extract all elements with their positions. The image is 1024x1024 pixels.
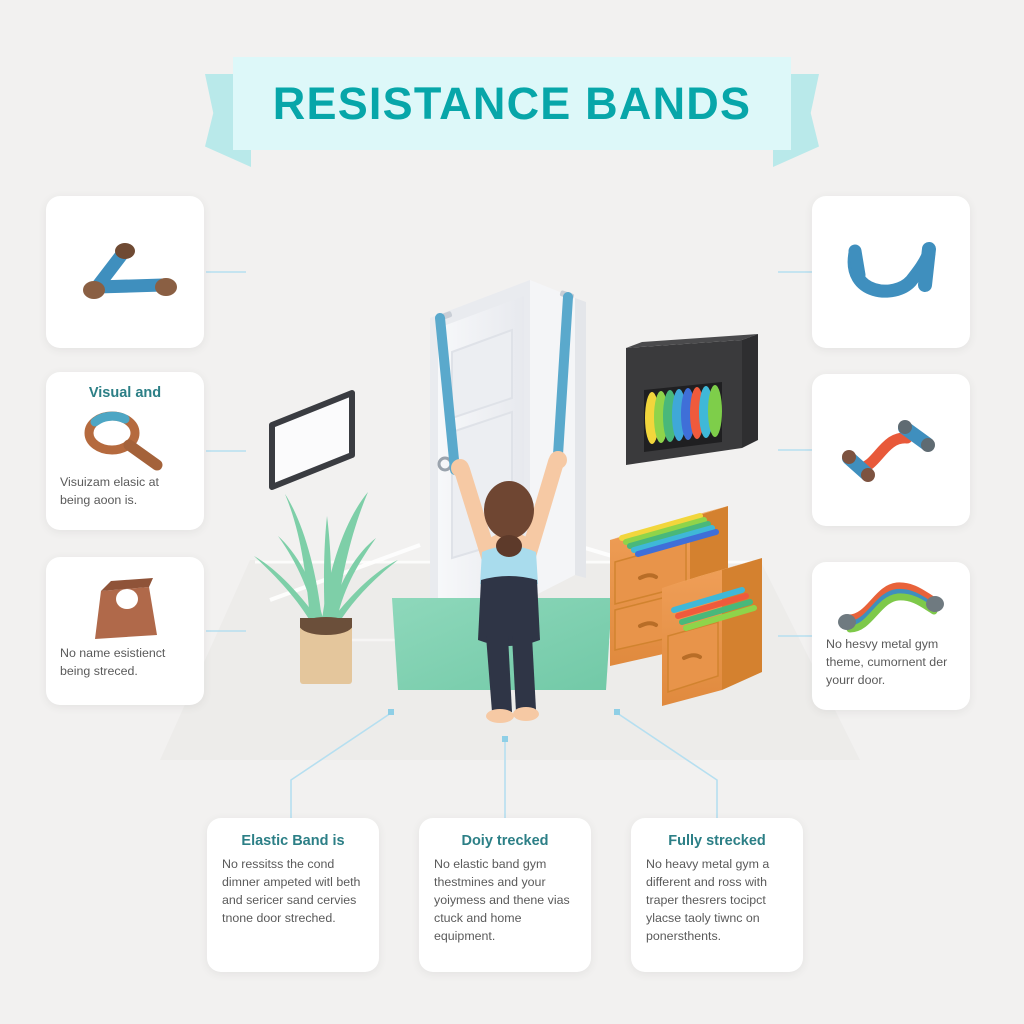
- card-middle-right[interactable]: [812, 374, 970, 526]
- page-title: RESISTANCE BANDS: [233, 57, 791, 150]
- resistance-band-blue-handles-icon: [67, 233, 183, 311]
- card-top-right[interactable]: [812, 196, 970, 348]
- card-bottom-left[interactable]: No name esistienct being streced.: [46, 557, 204, 705]
- infographic-canvas: Visual and Visuizam elasic at being aoon…: [0, 0, 1024, 1024]
- card-bottom-1[interactable]: Elastic Band is No ressitss the cond dim…: [207, 818, 379, 972]
- card-bottom-3-heading: Fully strecked: [646, 832, 788, 850]
- card-bottom-3[interactable]: Fully strecked No heavy metal gym a diff…: [631, 818, 803, 972]
- orange-band-blue-handles-icon: [833, 410, 949, 490]
- card-middle-left-body: Visuizam elasic at being aoon is.: [60, 474, 190, 510]
- card-bottom-3-body: No heavy metal gym a different and ross …: [646, 856, 788, 946]
- magnifying-glass-icon: [79, 408, 171, 474]
- card-bottom-right-body: No hesvy metal gym theme, cumornent der …: [826, 636, 956, 690]
- brown-bag-icon: [83, 569, 167, 645]
- card-bottom-right[interactable]: No hesvy metal gym theme, cumornent der …: [812, 562, 970, 710]
- dark-shelf-with-loop-bands: [626, 334, 758, 465]
- card-middle-left[interactable]: Visual and Visuizam elasic at being aoon…: [46, 372, 204, 530]
- card-bottom-left-body: No name esistienct being streced.: [60, 645, 190, 681]
- card-bottom-2-body: No elastic band gym thestmines and your …: [434, 856, 576, 946]
- blue-loop-band-icon: [833, 233, 949, 311]
- wall-mirror: [272, 393, 352, 487]
- title-banner: RESISTANCE BANDS: [205, 57, 819, 167]
- card-bottom-2-heading: Doiy trecked: [434, 832, 576, 850]
- multicolor-band-set-icon: [831, 574, 951, 636]
- card-bottom-1-body: No ressitss the cond dimner ampeted witl…: [222, 856, 364, 928]
- card-top-left[interactable]: [46, 196, 204, 348]
- card-bottom-1-heading: Elastic Band is: [222, 832, 364, 850]
- card-bottom-2[interactable]: Doiy trecked No elastic band gym thestmi…: [419, 818, 591, 972]
- card-middle-left-heading: Visual and: [89, 384, 161, 402]
